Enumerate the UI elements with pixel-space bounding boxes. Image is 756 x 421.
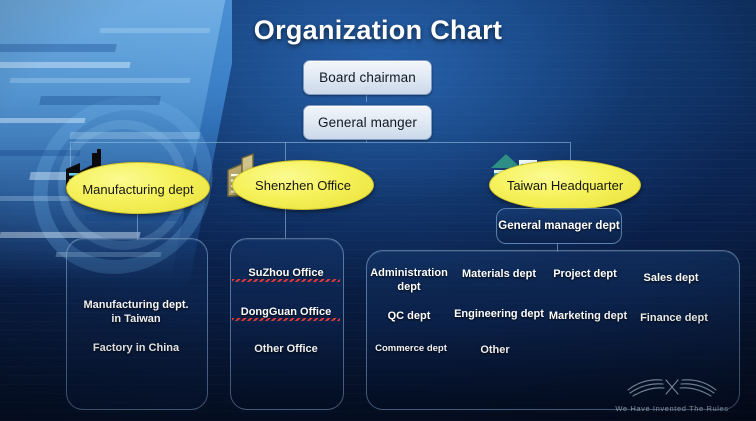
- taiwan-dept-project[interactable]: Project dept: [545, 268, 625, 280]
- taiwan-dept-commerce[interactable]: Commerce dept: [368, 343, 454, 354]
- general-manger-box[interactable]: General manger: [303, 105, 432, 140]
- taiwan-dept-administration[interactable]: Administration dept: [370, 266, 448, 294]
- shenzhen-item-suzhou[interactable]: SuZhou Office: [232, 267, 340, 282]
- taiwan-dept-administration-line1: Administration: [370, 266, 448, 280]
- division-label-manufacturing: Manufacturing dept: [82, 182, 193, 197]
- company-logo: We Have Invented The Rules: [598, 374, 746, 413]
- division-ellipse-manufacturing[interactable]: Manufacturing dept: [66, 162, 210, 214]
- manufacturing-item-taiwan[interactable]: Manufacturing dept. in Taiwan: [70, 298, 202, 326]
- taiwan-dept-finance[interactable]: Finance dept: [634, 312, 714, 324]
- division-ellipse-shenzhen[interactable]: Shenzhen Office: [232, 160, 374, 210]
- division-ellipse-taiwan[interactable]: Taiwan Headquarter: [489, 160, 641, 210]
- taiwan-dept-sales[interactable]: Sales dept: [632, 272, 710, 284]
- taiwan-dept-other[interactable]: Other: [462, 344, 528, 356]
- division-label-taiwan: Taiwan Headquarter: [507, 178, 623, 193]
- board-chairman-label: Board chairman: [319, 70, 416, 85]
- shenzhen-panel: [230, 238, 344, 410]
- manufacturing-item-taiwan-line1: Manufacturing dept.: [70, 298, 202, 312]
- manufacturing-item-taiwan-line2: in Taiwan: [70, 312, 202, 326]
- shenzhen-item-dongguan[interactable]: DongGuan Office: [232, 306, 340, 321]
- wings-logo-icon: [624, 374, 720, 398]
- general-manager-dept-label: General manager dept: [498, 220, 619, 232]
- division-label-shenzhen: Shenzhen Office: [255, 178, 351, 193]
- connector-horizontal-bus: [70, 142, 570, 143]
- taiwan-dept-qc[interactable]: QC dept: [370, 310, 448, 322]
- general-manager-dept-box[interactable]: General manager dept: [496, 208, 622, 244]
- taiwan-dept-marketing[interactable]: Marketing dept: [543, 310, 633, 322]
- organization-chart-slide: Organization Chart Board chairman Genera…: [0, 0, 756, 421]
- page-title: Organization Chart: [0, 15, 756, 46]
- logo-tagline: We Have Invented The Rules: [598, 404, 746, 413]
- taiwan-dept-administration-line2: dept: [370, 280, 448, 294]
- taiwan-dept-engineering[interactable]: Engineering dept: [450, 308, 548, 320]
- taiwan-dept-materials[interactable]: Materials dept: [455, 268, 543, 280]
- general-manger-label: General manger: [318, 115, 417, 130]
- connector-drop-manufacturing: [70, 142, 71, 168]
- board-chairman-box[interactable]: Board chairman: [303, 60, 432, 95]
- manufacturing-item-factory[interactable]: Factory in China: [70, 342, 202, 354]
- shenzhen-item-other[interactable]: Other Office: [232, 343, 340, 355]
